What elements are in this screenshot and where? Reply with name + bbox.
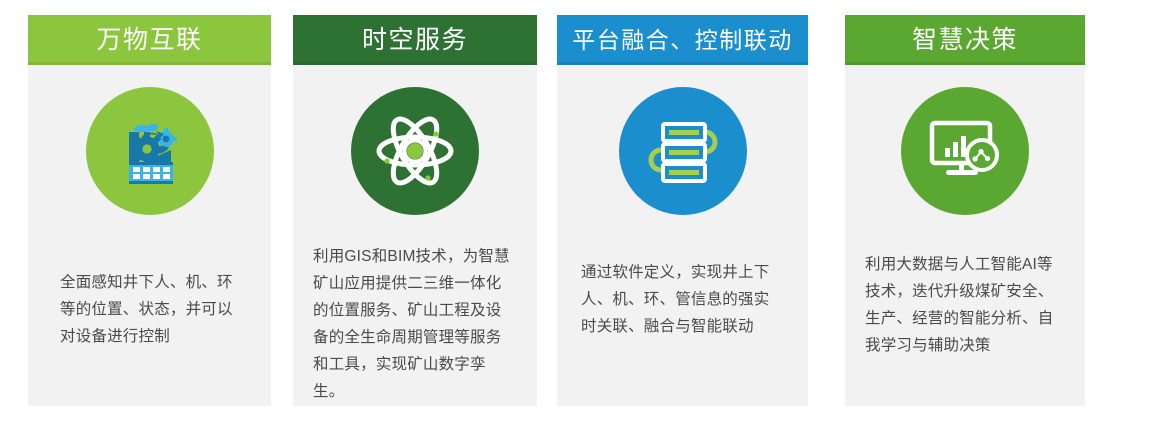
card-header-title: 智慧决策: [845, 15, 1085, 65]
feature-card-shikongfuwu[interactable]: 时空服务 利用GIS和BIM技术，为智慧矿山应用提供二三维一体化的位置服务、矿山…: [293, 15, 537, 406]
card-body: 通过软件定义，实现井上下人、机、环、管信息的强实时关联、融合与智能联动: [557, 65, 808, 406]
card-header-title: 万物互联: [28, 15, 271, 65]
feature-card-zhihuijuece[interactable]: 智慧决策: [845, 15, 1085, 406]
dashboard-analytics-icon: [901, 87, 1029, 215]
atom-icon: [351, 87, 479, 215]
feature-card-board: 万物互联: [0, 0, 1150, 423]
server-stack-icon: [619, 87, 747, 215]
card-header-title: 平台融合、控制联动: [557, 15, 808, 65]
card-header-title: 时空服务: [293, 15, 537, 65]
card-description: 利用GIS和BIM技术，为智慧矿山应用提供二三维一体化的位置服务、矿山工程及设备…: [293, 215, 537, 405]
feature-card-wanwuhulian[interactable]: 万物互联: [28, 15, 271, 406]
card-description: 通过软件定义，实现井上下人、机、环、管信息的强实时关联、融合与智能联动: [557, 215, 808, 340]
card-description: 全面感知井下人、机、环等的位置、状态，并可以对设备进行控制: [28, 215, 271, 350]
card-body: 利用大数据与人工智能AI等技术，迭代升级煤矿安全、生产、经营的智能分析、自我学习…: [845, 65, 1085, 406]
factory-gears-icon: [86, 87, 214, 215]
card-body: 全面感知井下人、机、环等的位置、状态，并可以对设备进行控制: [28, 65, 271, 406]
feature-card-pingtaironghe[interactable]: 平台融合、控制联动: [557, 15, 808, 406]
card-body: 利用GIS和BIM技术，为智慧矿山应用提供二三维一体化的位置服务、矿山工程及设备…: [293, 65, 537, 406]
card-description: 利用大数据与人工智能AI等技术，迭代升级煤矿安全、生产、经营的智能分析、自我学习…: [845, 215, 1085, 359]
